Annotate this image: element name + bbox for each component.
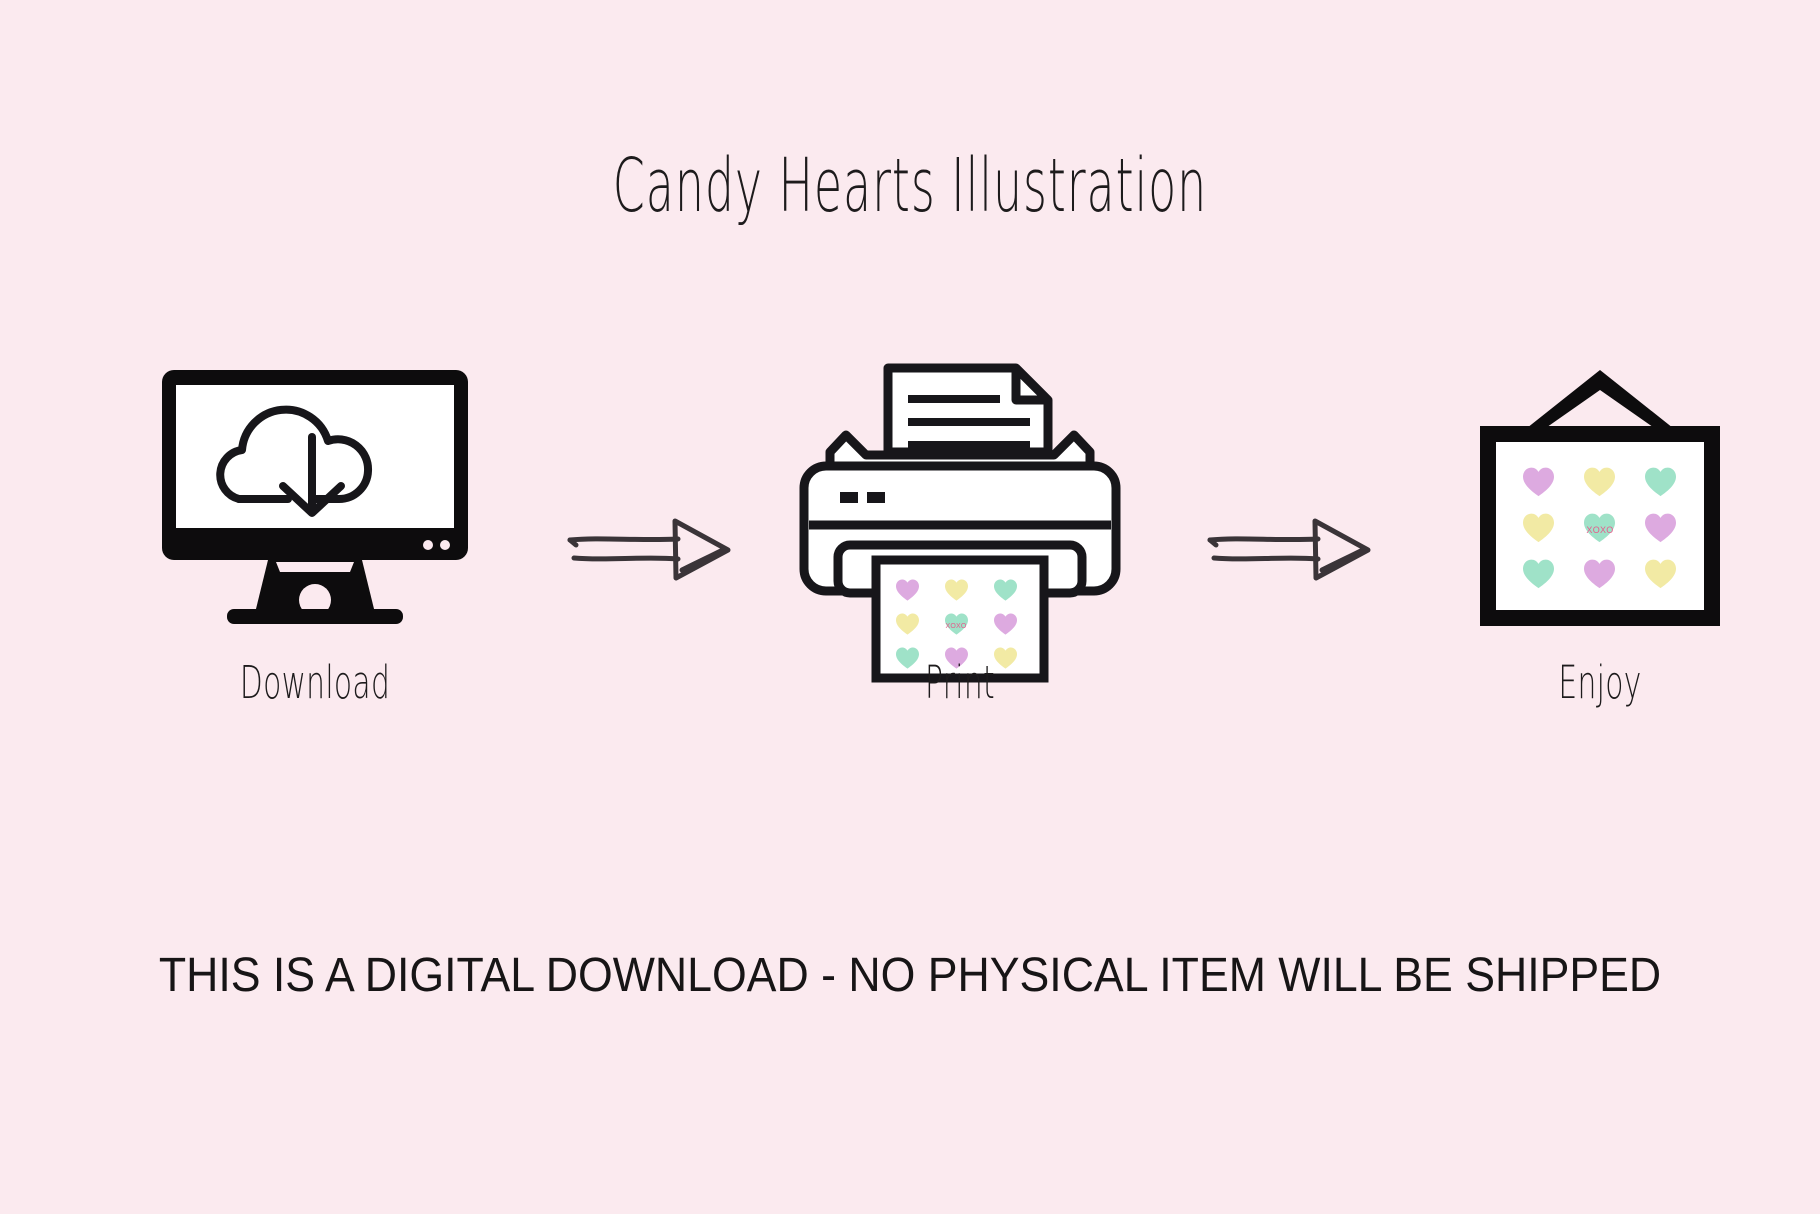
monitor-cloud-download-icon (135, 360, 495, 650)
xoxo-label-frame: XOXO (1586, 525, 1613, 535)
step-label-download: Download (196, 656, 434, 709)
step-enjoy: XOXO (1420, 360, 1780, 780)
step-download: Download (135, 360, 495, 780)
step-label-print: Print (841, 656, 1079, 709)
digital-download-disclaimer: THIS IS A DIGITAL DOWNLOAD - NO PHYSICAL… (64, 948, 1757, 1003)
xoxo-label-print: XOXO (945, 623, 966, 630)
printer-icon: XOXO (780, 360, 1140, 650)
framed-picture-icon: XOXO (1420, 360, 1780, 650)
step-print: XOXO (780, 360, 1140, 780)
step-label-enjoy: Enjoy (1481, 656, 1719, 709)
page-title: Candy Hearts Illustration (346, 148, 1474, 226)
hand-drawn-arrow-right-icon (1200, 500, 1380, 600)
steps-row: Download (0, 360, 1820, 780)
hand-drawn-arrow-right-icon (560, 500, 740, 600)
poster-canvas: Candy Hearts Illustration (0, 0, 1820, 1214)
